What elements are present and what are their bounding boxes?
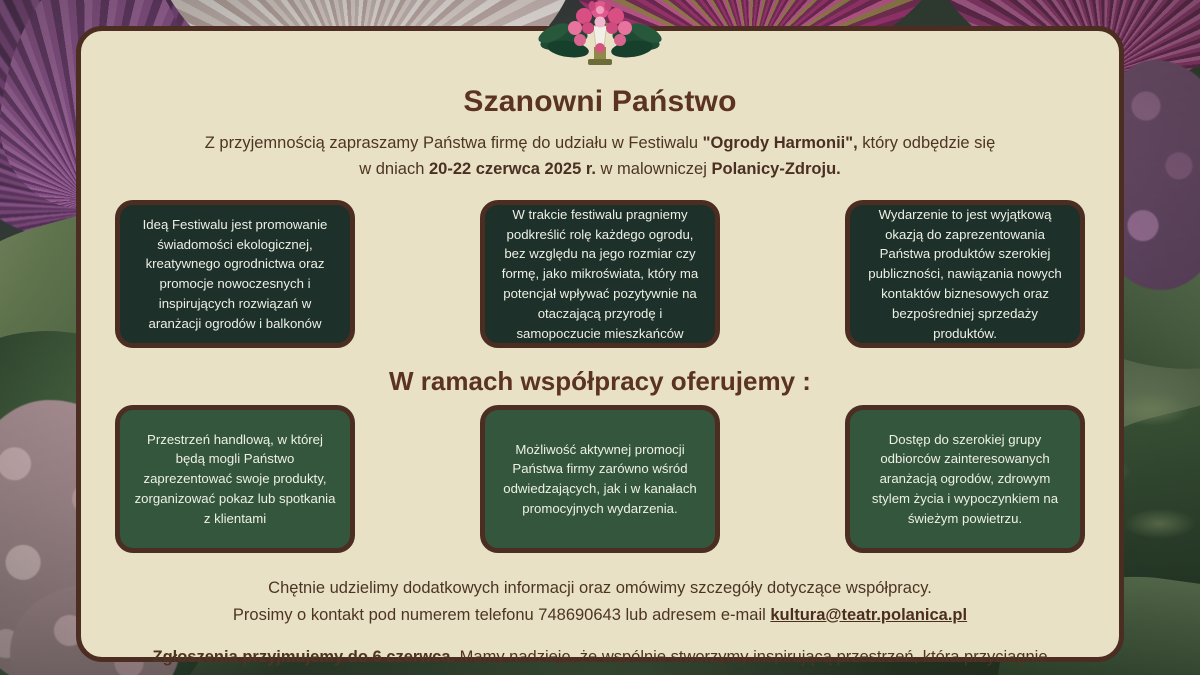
page-title: Szanowni Państwo <box>115 85 1085 119</box>
offer-card-text: Dostęp do szerokiej grupy odbiorców zain… <box>862 430 1068 529</box>
intro-line2-mid: w malowniczej <box>596 160 712 178</box>
footer-line3-rest: Mamy nadzieję, że wspólnie stworzymy ins… <box>455 648 1047 666</box>
section-subtitle: W ramach współpracy oferujemy : <box>115 366 1085 397</box>
submission-deadline: Zgłoszenia przyjmujemy do 6 czerwca. <box>152 648 455 666</box>
bottom-card-row: Przestrzeń handlową, w której będą mogli… <box>115 405 1085 553</box>
offer-card: Możliwość aktywnej promocji Państwa firm… <box>480 405 720 553</box>
info-card-text: Ideą Festiwalu jest promowanie świadomoś… <box>132 215 338 334</box>
intro-paragraph: Z przyjemnością zapraszamy Państwa firmę… <box>115 131 1085 182</box>
offer-card: Dostęp do szerokiej grupy odbiorców zain… <box>845 405 1085 553</box>
festival-dates: 20-22 czerwca 2025 r. <box>429 160 596 178</box>
intro-line1-post: który odbędzie się <box>858 134 996 152</box>
contact-email-link[interactable]: kultura@teatr.polanica.pl <box>770 606 967 624</box>
contact-paragraph: Chętnie udzielimy dodatkowych informacji… <box>115 575 1085 628</box>
deadline-paragraph: Zgłoszenia przyjmujemy do 6 czerwca. Mam… <box>115 644 1085 675</box>
info-card: W trakcie festiwalu pragniemy podkreślić… <box>480 200 720 348</box>
footer-line2-pre: Prosimy o kontakt pod numerem telefonu <box>233 606 538 624</box>
footer-line1: Chętnie udzielimy dodatkowych informacji… <box>268 579 932 597</box>
poster-canvas: Szanowni Państwo Z przyjemnością zaprasz… <box>0 0 1200 675</box>
festival-name: "Ogrody Harmonii", <box>703 134 858 152</box>
offer-card-text: Przestrzeń handlową, w której będą mogli… <box>132 430 338 529</box>
info-card: Ideą Festiwalu jest promowanie świadomoś… <box>115 200 355 348</box>
intro-line2-pre: w dniach <box>359 160 429 178</box>
content-panel: Szanowni Państwo Z przyjemnością zaprasz… <box>76 26 1124 662</box>
contact-phone: 748690643 <box>538 606 621 624</box>
footer-line2-mid: lub adresem e-mail <box>621 606 770 624</box>
top-card-row: Ideą Festiwalu jest promowanie świadomoś… <box>115 200 1085 348</box>
info-card-text: Wydarzenie to jest wyjątkową okazją do z… <box>862 205 1068 344</box>
footer-block: Chętnie udzielimy dodatkowych informacji… <box>115 575 1085 675</box>
intro-line1-pre: Z przyjemnością zapraszamy Państwa firmę… <box>205 134 703 152</box>
offer-card-text: Możliwość aktywnej promocji Państwa firm… <box>497 440 703 519</box>
info-card-text: W trakcie festiwalu pragniemy podkreślić… <box>497 205 703 344</box>
info-card: Wydarzenie to jest wyjątkową okazją do z… <box>845 200 1085 348</box>
offer-card: Przestrzeń handlową, w której będą mogli… <box>115 405 355 553</box>
festival-location: Polanicy-Zdroju. <box>711 160 840 178</box>
